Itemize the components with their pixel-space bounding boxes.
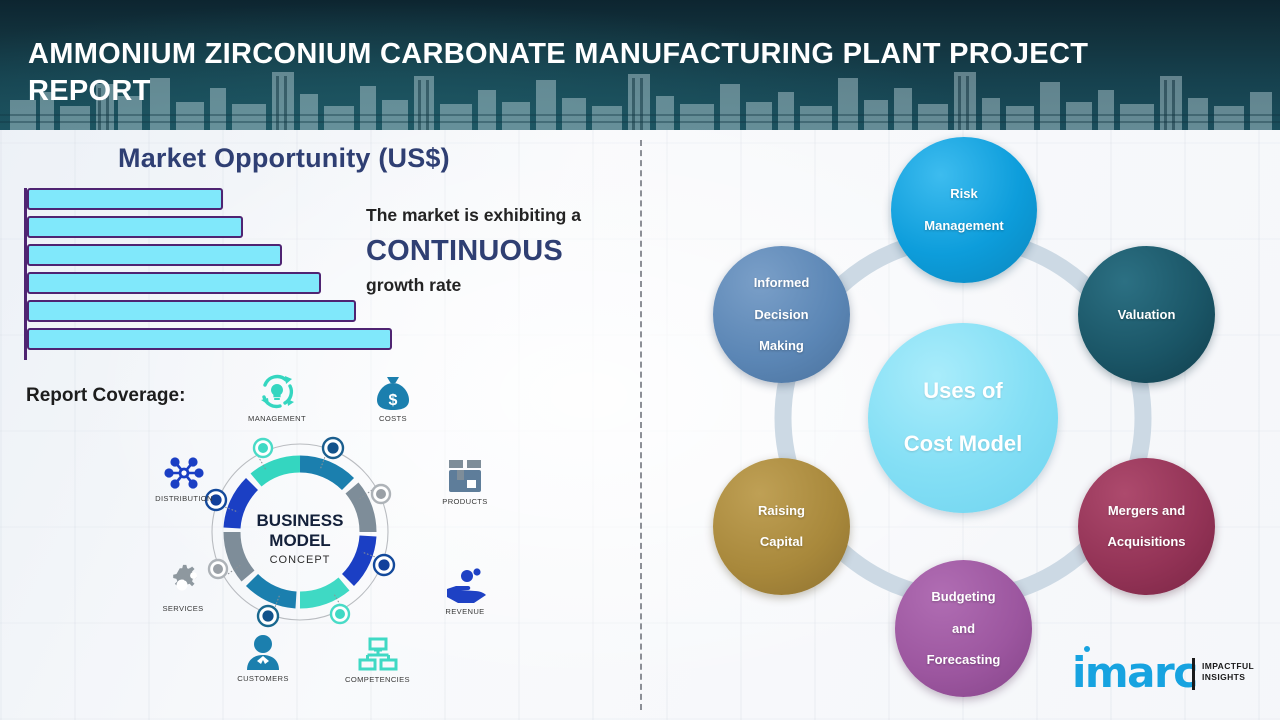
node-informed-line1: Informed: [748, 275, 816, 291]
package-box-icon: [444, 457, 486, 495]
bm-center-line1: BUSINESS: [257, 511, 344, 530]
node-valuation-line1: Valuation: [1112, 307, 1182, 323]
bm-label-revenue: REVENUE: [410, 607, 520, 616]
bm-item-customers[interactable]: CUSTOMERS: [208, 634, 318, 683]
gears-icon: [161, 564, 205, 602]
chart-bar: [27, 188, 223, 210]
bm-label-services: SERVICES: [128, 604, 238, 613]
node-budgeting-forecasting[interactable]: Budgeting and Forecasting: [895, 560, 1032, 697]
user-person-icon: [242, 634, 284, 672]
bm-center-line2: MODEL: [269, 531, 330, 550]
node-budget-line1: Budgeting: [921, 589, 1007, 605]
node-risk-line2: Management: [918, 218, 1009, 234]
node-informed-line2: Decision: [748, 307, 816, 323]
blurb-line-2: growth rate: [366, 275, 636, 296]
hand-coins-icon: [443, 567, 487, 605]
bm-label-management: MANAGEMENT: [222, 414, 332, 423]
bm-item-revenue[interactable]: REVENUE: [410, 567, 520, 616]
bm-label-costs: COSTS: [338, 414, 448, 423]
node-risk-line1: Risk: [918, 186, 1009, 202]
logo-tagline-line1: IMPACTFUL: [1202, 661, 1254, 671]
bm-item-distribution[interactable]: DISTRIBUTION: [128, 454, 240, 503]
blurb-line-1: The market is exhibiting a: [366, 205, 636, 227]
bm-center-line3: CONCEPT: [270, 554, 331, 566]
report-header-banner: AMMONIUM ZIRCONIUM CARBONATE MANUFACTURI…: [0, 0, 1280, 130]
svg-text:$: $: [389, 392, 398, 409]
bm-item-costs[interactable]: $ COSTS: [338, 374, 448, 423]
logo-tagline: IMPACTFUL INSIGHTS: [1202, 661, 1254, 684]
bm-item-management[interactable]: MANAGEMENT: [222, 372, 332, 423]
node-valuation[interactable]: Valuation: [1078, 246, 1215, 383]
logo-tagline-line2: INSIGHTS: [1202, 672, 1245, 682]
node-capital-line1: Raising: [752, 503, 811, 519]
node-budget-line2: and: [921, 621, 1007, 637]
node-mergers-acquisitions[interactable]: Mergers and Acquisitions: [1078, 458, 1215, 595]
page-title: AMMONIUM ZIRCONIUM CARBONATE MANUFACTURI…: [28, 36, 1188, 109]
chart-bar: [27, 272, 321, 294]
node-budget-line3: Forecasting: [921, 652, 1007, 668]
recycle-bulb-icon: [254, 372, 300, 412]
panel-divider: [640, 140, 642, 710]
money-bag-icon: $: [372, 374, 414, 412]
logo-separator: [1192, 658, 1195, 690]
bm-item-competencies[interactable]: COMPETENCIES: [320, 637, 435, 684]
chart-bar: [27, 216, 243, 238]
node-informed-line3: Making: [748, 338, 816, 354]
node-risk-management[interactable]: Risk Management: [891, 137, 1037, 283]
logo-dot-icon: [1084, 646, 1090, 652]
node-center-line1: Uses of: [898, 378, 1029, 405]
org-chart-icon: [357, 637, 399, 673]
blurb-highlight: CONTINUOUS: [366, 232, 636, 271]
network-nodes-icon: [162, 454, 206, 492]
bm-item-products[interactable]: PRODUCTS: [410, 457, 520, 506]
imarc-logo[interactable]: imarc IMPACTFUL INSIGHTS: [1072, 652, 1262, 702]
chart-bar: [27, 244, 282, 266]
uses-of-cost-model-diagram: Uses of Cost Model Risk Management Valua…: [640, 130, 1280, 720]
node-informed-decision-making[interactable]: Informed Decision Making: [713, 246, 850, 383]
node-center-line2: Cost Model: [898, 431, 1029, 458]
market-opportunity-bar-chart: [24, 188, 424, 360]
bm-label-competencies: COMPETENCIES: [320, 675, 435, 684]
chart-bar: [27, 300, 356, 322]
market-opportunity-title: Market Opportunity (US$): [118, 143, 450, 174]
node-mergers-line2: Acquisitions: [1101, 534, 1191, 550]
bm-item-services[interactable]: SERVICES: [128, 564, 238, 613]
bm-label-products: PRODUCTS: [410, 497, 520, 506]
bm-label-customers: CUSTOMERS: [208, 674, 318, 683]
bm-label-distribution: DISTRIBUTION: [128, 494, 240, 503]
node-raising-capital[interactable]: Raising Capital: [713, 458, 850, 595]
chart-bar: [27, 328, 392, 350]
node-capital-line2: Capital: [752, 534, 811, 550]
business-model-diagram: BUSINESS MODEL CONCEPT MANAGEMENT $ COST…: [120, 372, 520, 702]
growth-blurb: The market is exhibiting a CONTINUOUS gr…: [366, 205, 636, 296]
node-center-uses-of-cost-model[interactable]: Uses of Cost Model: [868, 323, 1058, 513]
node-mergers-line1: Mergers and: [1101, 503, 1191, 519]
